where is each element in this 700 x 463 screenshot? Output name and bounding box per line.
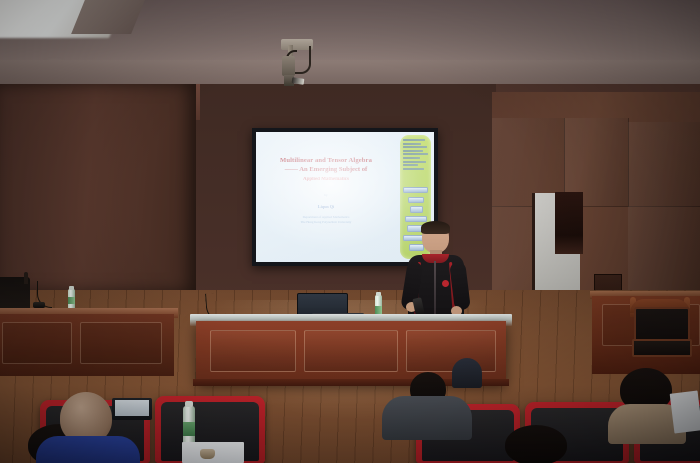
bottle-cap [376, 292, 381, 296]
slide-by-label: by [256, 193, 396, 197]
chair-seat [632, 339, 692, 357]
paper-cup [200, 449, 215, 459]
wooden-armchair[interactable] [630, 291, 690, 355]
wood-panel [628, 122, 700, 207]
toc-line [403, 139, 425, 141]
slide-affiliation-line2: The Hong Kong Polytechnic University [256, 220, 396, 225]
audience-person-shoulders [382, 396, 472, 440]
rear-desk [0, 314, 174, 376]
slide-nav-button[interactable] [408, 197, 424, 203]
podium-panel [210, 330, 296, 372]
toc-line [403, 153, 428, 155]
slide-title-line1: Multilinear and Tensor Algebra [256, 156, 396, 165]
jacket-emblem [442, 280, 449, 287]
toc-line [403, 164, 418, 166]
slide-nav-button[interactable] [410, 206, 423, 212]
desk-panel [80, 322, 162, 364]
bottle-label [68, 297, 75, 304]
desk-panel [2, 322, 72, 364]
ceiling-light-edge [71, 0, 145, 34]
toc-line [403, 157, 420, 159]
tablet-device[interactable] [112, 398, 152, 420]
wall-left-panel [0, 84, 196, 292]
audience-person-head [505, 425, 567, 463]
slide-nav-button[interactable] [403, 187, 428, 193]
slide-toc-list [403, 139, 429, 171]
tablet-screen [115, 400, 149, 416]
podium-panel [406, 330, 496, 372]
lecture-hall-photo: Multilinear and Tensor Algebra —— An Eme… [0, 0, 700, 463]
wood-panel [628, 206, 700, 299]
toc-line [403, 150, 423, 152]
slide-author: Liqun Qi [256, 204, 396, 209]
slide-subtitle: Applied Mathematics [256, 177, 396, 182]
toc-line [403, 161, 426, 163]
toc-line [403, 168, 424, 170]
presenter-hair [421, 221, 450, 234]
rig-housing [282, 56, 295, 76]
slide-content: Multilinear and Tensor Algebra —— An Eme… [256, 132, 396, 262]
bottle-cap [185, 401, 193, 407]
toc-line [403, 143, 421, 145]
bottle-label [375, 306, 382, 314]
water-bottle [183, 406, 195, 446]
bottle-cap [69, 286, 74, 290]
chair-post [24, 272, 28, 284]
podium-panel [304, 330, 398, 372]
bottle-label [183, 422, 195, 436]
handout-papers[interactable] [670, 390, 700, 433]
toc-line [403, 146, 427, 148]
slide-title-line2: —— An Emerging Subject of [256, 165, 396, 174]
audience-person-shoulders [452, 358, 482, 388]
door-curtain [555, 192, 583, 254]
audience-person-shoulders [36, 436, 140, 463]
